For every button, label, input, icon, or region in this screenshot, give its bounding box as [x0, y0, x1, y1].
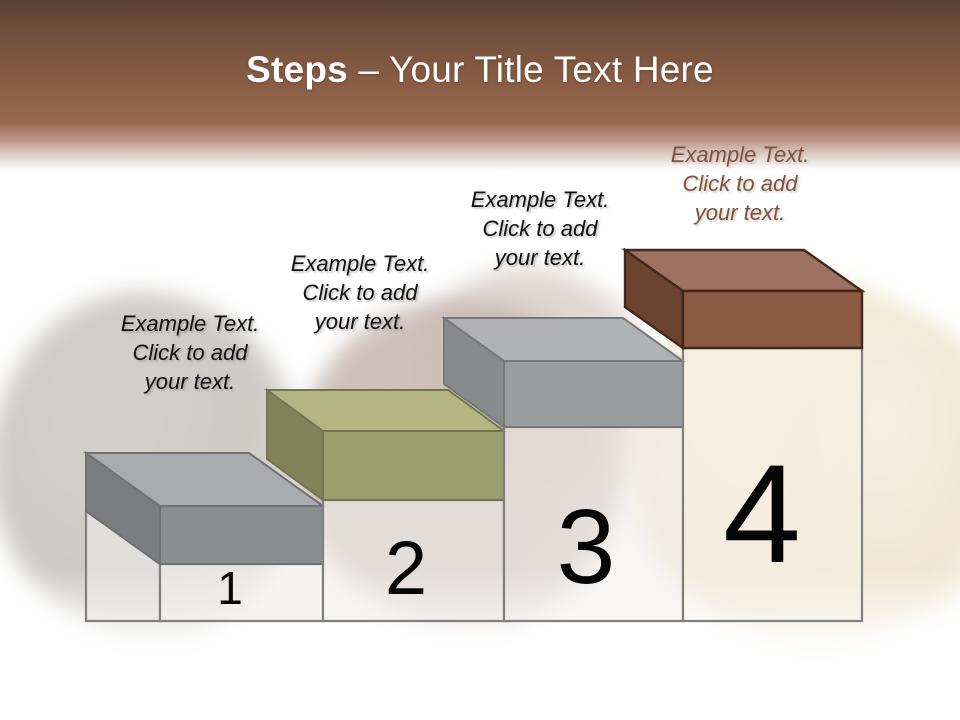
step-4-caption-line-3: your text. [638, 198, 842, 227]
slide-canvas: Steps – Your Title Text Here 1 2 [0, 0, 960, 720]
step-4-caption[interactable]: Example Text. Click to add your text. [638, 140, 842, 227]
step-4-slab-front-face [683, 291, 862, 348]
step-1-caption-line-2: Click to add [88, 338, 292, 367]
step-3-caption-line-3: your text. [438, 243, 642, 272]
step-4-caption-line-2: Click to add [638, 169, 842, 198]
step-4-number: 4 [723, 435, 801, 592]
step-3-slab-front-face [504, 361, 683, 427]
step-1-number: 1 [217, 562, 243, 614]
step-3-caption-line-1: Example Text. [438, 185, 642, 214]
step-2-caption[interactable]: Example Text. Click to add your text. [258, 249, 462, 336]
step-2-slab-front-face [323, 431, 504, 500]
step-4-caption-line-1: Example Text. [638, 140, 842, 169]
step-2-caption-line-2: Click to add [258, 278, 462, 307]
step-1-caption-line-3: your text. [88, 367, 292, 396]
step-1-slab-front-face [160, 506, 323, 564]
step-2-caption-line-1: Example Text. [258, 249, 462, 278]
step-3-number: 3 [557, 488, 616, 606]
step-1-group[interactable]: 1 [86, 453, 323, 621]
step-3-caption-line-2: Click to add [438, 214, 642, 243]
step-2-caption-line-3: your text. [258, 307, 462, 336]
step-2-number: 2 [385, 526, 427, 611]
step-3-caption[interactable]: Example Text. Click to add your text. [438, 185, 642, 272]
